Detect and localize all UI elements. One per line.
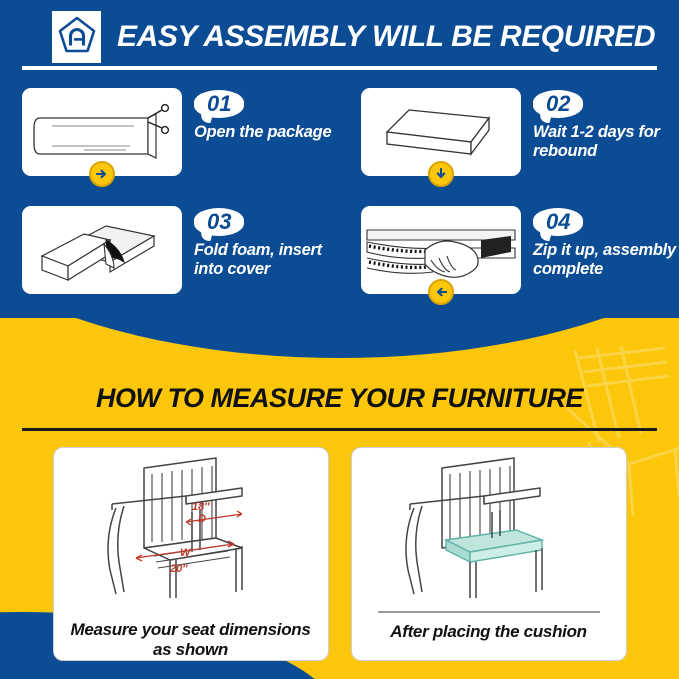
step-item: 01 Open the package bbox=[0, 88, 339, 206]
chair-with-cushion-illustration bbox=[364, 452, 614, 609]
step-label: Wait 1-2 days for rebound bbox=[533, 123, 679, 161]
step-number-badge: 03 bbox=[194, 208, 244, 236]
step-label: Fold foam, insert into cover bbox=[194, 241, 339, 279]
dimension-depth-label: D bbox=[198, 513, 206, 525]
step-text: 04 Zip it up, assembly complete bbox=[533, 208, 679, 279]
steps-grid: 01 Open the package bbox=[0, 88, 679, 322]
panel-divider bbox=[378, 611, 600, 613]
step-label: Zip it up, assembly complete bbox=[533, 241, 679, 279]
page-title: EASY ASSEMBLY WILL BE REQUIRED bbox=[117, 20, 655, 54]
step-number-badge: 02 bbox=[533, 90, 583, 118]
measure-divider bbox=[22, 428, 657, 431]
dimension-depth-value: 18″ bbox=[192, 501, 210, 513]
step-text: 02 Wait 1-2 days for rebound bbox=[533, 90, 679, 161]
step-illustration-card bbox=[22, 88, 182, 176]
step-number-badge: 01 bbox=[194, 90, 244, 118]
step-item: 03 Fold foam, insert into cover bbox=[0, 206, 339, 322]
step-illustration-card bbox=[361, 206, 521, 294]
step-item: 04 Zip it up, assembly complete bbox=[339, 206, 679, 322]
dimension-width-label: W bbox=[180, 547, 192, 559]
infographic-page: EASY ASSEMBLY WILL BE REQUIRED bbox=[0, 0, 679, 679]
step-item: 02 Wait 1-2 days for rebound bbox=[339, 88, 679, 206]
measure-panels: 18″ D W 20″ Measure your seat dimensions… bbox=[0, 447, 679, 662]
dimension-width-value: 20″ bbox=[169, 563, 188, 575]
folded-foam-into-cover-illustration bbox=[22, 206, 182, 294]
arrow-left-icon bbox=[428, 279, 454, 305]
step-text: 01 Open the package bbox=[194, 90, 331, 142]
curved-divider bbox=[0, 318, 679, 358]
house-pentagon-icon bbox=[58, 15, 96, 60]
step-illustration-card bbox=[22, 206, 182, 294]
measure-panel: After placing the cushion bbox=[351, 447, 627, 661]
header: EASY ASSEMBLY WILL BE REQUIRED bbox=[0, 6, 679, 68]
step-text: 03 Fold foam, insert into cover bbox=[194, 208, 339, 279]
step-illustration-card bbox=[361, 88, 521, 176]
chair-with-dimensions-illustration: 18″ D W 20″ bbox=[66, 452, 316, 609]
panel-caption: After placing the cushion bbox=[382, 622, 595, 642]
header-divider bbox=[22, 66, 657, 70]
step-number-badge: 04 bbox=[533, 208, 583, 236]
step-label: Open the package bbox=[194, 123, 331, 142]
measure-panel: 18″ D W 20″ Measure your seat dimensions… bbox=[53, 447, 329, 661]
brand-logo bbox=[52, 11, 101, 63]
measure-title: HOW TO MEASURE YOUR FURNITURE bbox=[0, 383, 679, 414]
arrow-right-icon bbox=[89, 161, 115, 187]
panel-caption: Measure your seat dimensions as shown bbox=[54, 620, 328, 660]
arrow-down-icon bbox=[428, 161, 454, 187]
